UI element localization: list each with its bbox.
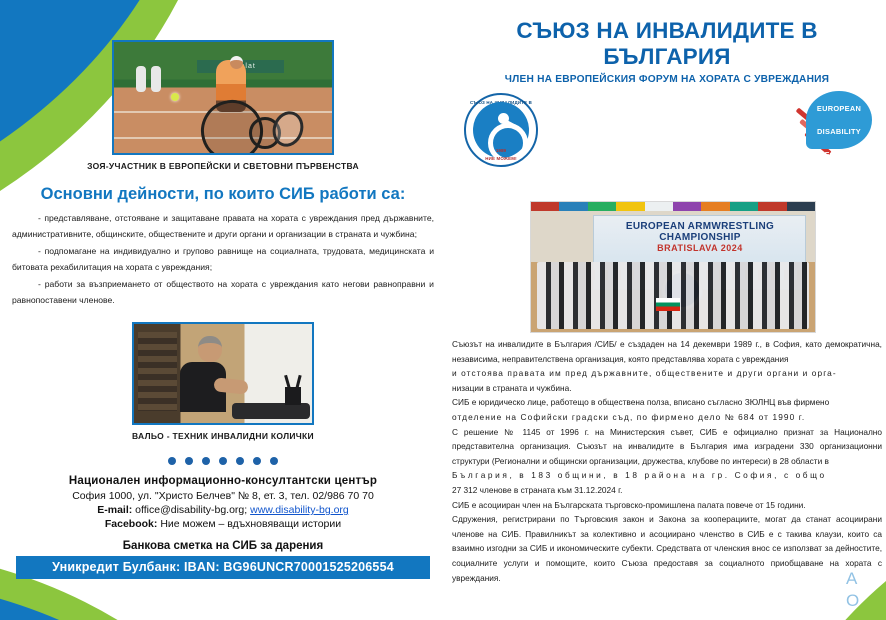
spectator [151, 66, 161, 92]
armwrestling-team-photo: EUROPEAN ARMWRESTLING CHAMPIONSHIP BRATI… [530, 201, 816, 333]
description-paragraph: отделение на Софийски градски съд, по фи… [452, 410, 882, 425]
website-link[interactable]: www.disability-bg.org [250, 504, 349, 516]
spectator [136, 66, 146, 92]
description-paragraph: СИБ е асоцииран член на Българската търг… [452, 498, 882, 513]
edf-logo-line2: DISABILITY [806, 114, 872, 137]
description-paragraph: и отстоява правата им пред държавните, о… [452, 366, 882, 381]
technician-head [198, 336, 222, 362]
bulgarian-flag [656, 298, 680, 311]
tool-rack [138, 332, 177, 411]
flag [616, 202, 644, 211]
flag [531, 202, 559, 211]
athlete-head [230, 56, 243, 69]
email-value: office@disability-bg.org; [135, 504, 247, 516]
wheelchair-technician-photo [132, 322, 314, 425]
flag [559, 202, 587, 211]
facebook-label: Facebook: [105, 518, 158, 530]
page-title: СЪЮЗ НА ИНВАЛИДИТЕ В БЪЛГАРИЯ [452, 18, 882, 70]
facebook-value: Ние можем – вдъхновяващи истории [160, 518, 341, 530]
separator-dot [202, 457, 210, 465]
flag [645, 202, 673, 211]
european-disability-forum-logo: EUROPEAN DISABILITY FORUM [794, 91, 872, 169]
separator-dot [219, 457, 227, 465]
activity-paragraph: - подпомагане на индивидуално и групово … [12, 243, 434, 275]
contact-address: София 1000, ул. "Христо Белчев" № 8, ет.… [8, 490, 438, 502]
description-paragraph: С решение № 1145 от 1996 г. на Министерс… [452, 425, 882, 469]
team-group [537, 262, 810, 330]
activity-paragraph: - работи за възприемането от обществото … [12, 276, 434, 308]
description-paragraph: Съюзът на инвалидите в България /СИБ/ е … [452, 337, 882, 366]
description-paragraph: СИБ е юридическо лице, работещо в общест… [452, 395, 882, 410]
flag [758, 202, 786, 211]
wheelchair-tennis-photo: Babolat [112, 40, 334, 155]
router-device [285, 387, 301, 405]
contact-email-line: E-mail: office@disability-bg.org; www.di… [8, 504, 438, 516]
edf-logo-bubble: EUROPEAN DISABILITY FORUM [806, 91, 872, 149]
separator-dot [185, 457, 193, 465]
separator-dot [236, 457, 244, 465]
sib-logo-arc-bottom: НИЕ МОЖЕМ! [466, 156, 536, 161]
organisation-description: Съюзът на инвалидите в България /СИБ/ е … [452, 337, 882, 585]
description-paragraph: 27 312 членове в страната към 31.12.2024… [452, 483, 882, 498]
technician-photo-caption: ВАЛЬО - ТЕХНИК ИНВАЛИДНИ КОЛИЧКИ [8, 431, 438, 441]
logo-row: СЪЮЗ НА ИНВАЛИДИТЕ В БЪЛГАРИЯ 1989 НИЕ М… [452, 89, 882, 181]
flag-row [531, 202, 815, 211]
page-subtitle: ЧЛЕН НА ЕВРОПЕЙСКИЯ ФОРУМ НА ХОРАТА С УВ… [452, 74, 882, 85]
activity-paragraph: - представляване, отстояване и защитаван… [12, 210, 434, 242]
flag [588, 202, 616, 211]
edf-logo-line3: FORUM [806, 137, 872, 160]
edge-letter-2: О [846, 590, 882, 612]
iban-bar: Уникредит Булбанк: IBAN: BG96UNCR7000152… [16, 556, 430, 579]
main-activities-heading: Основни дейности, по които СИБ работи са… [8, 185, 438, 204]
edf-logo-line1: EUROPEAN [806, 91, 872, 114]
championship-banner-line2: BRATISLAVA 2024 [594, 243, 805, 253]
description-paragraph: Сдружения, регистрирани по Търговския за… [452, 512, 882, 585]
tennis-photo-caption: ЗОЯ-УЧАСТНИК В ЕВРОПЕЙСКИ И СВЕТОВНИ ПЪР… [8, 161, 438, 171]
contact-facebook-line: Facebook: Ние можем – вдъхновяващи истор… [8, 518, 438, 530]
left-column: Babolat ЗОЯ-УЧАСТНИК В ЕВРОПЕЙСКИ И СВЕТ… [8, 40, 438, 579]
brochure-page: A О Babolat ЗОЯ-УЧАСТНИК В ЕВРОПЕЙСКИ И … [0, 0, 886, 620]
separator-dot [270, 457, 278, 465]
workbench [232, 403, 310, 419]
championship-banner-line1: EUROPEAN ARMWRESTLING CHAMPIONSHIP [594, 221, 805, 243]
flag [701, 202, 729, 211]
sib-logo-year: 1989 [466, 148, 536, 153]
flag [787, 202, 815, 211]
separator-dot [253, 457, 261, 465]
contact-block: Национален информационно-консултантски ц… [8, 475, 438, 530]
separator-dot [168, 457, 176, 465]
main-activities-text: - представляване, отстояване и защитаван… [8, 210, 438, 308]
dot-separator [8, 457, 438, 465]
contact-center-name: Национален информационно-консултантски ц… [8, 475, 438, 487]
tennis-ball [171, 93, 179, 101]
flag [673, 202, 701, 211]
bank-account-title: Банкова сметка на СИБ за дарения [8, 540, 438, 552]
sib-logo: СЪЮЗ НА ИНВАЛИДИТЕ В БЪЛГАРИЯ 1989 НИЕ М… [464, 93, 538, 167]
email-label: E-mail: [97, 504, 132, 516]
description-paragraph: България, в 183 общини, в 18 района на г… [452, 468, 882, 483]
right-column: СЪЮЗ НА ИНВАЛИДИТЕ В БЪЛГАРИЯ ЧЛЕН НА ЕВ… [452, 18, 882, 585]
description-paragraph: низации в страната и чужбина. [452, 381, 882, 396]
flag [730, 202, 758, 211]
